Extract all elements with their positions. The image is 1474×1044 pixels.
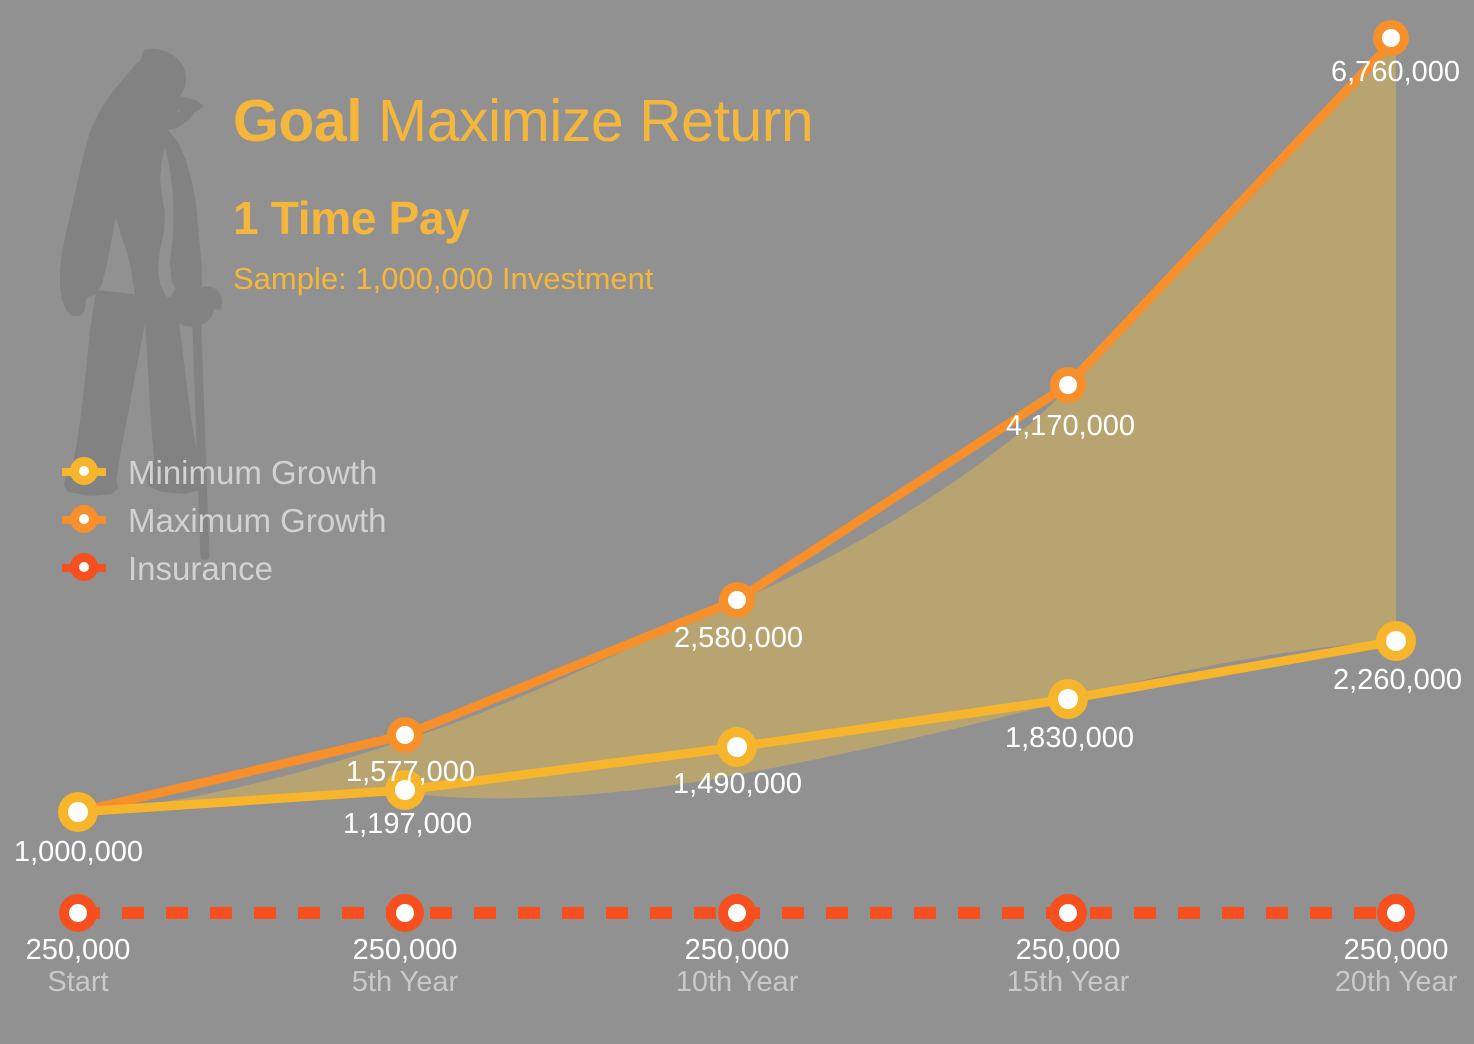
axis-tick-15th-year: 250,000 15th Year — [990, 934, 1146, 999]
data-label-min-5y: 1,197,000 — [343, 810, 472, 839]
sample-annotation: Sample: 1,000,000 Investment — [233, 263, 1053, 294]
axis-tick-20th-year: 250,000 20th Year — [1318, 934, 1474, 999]
legend-label: Maximum Growth — [128, 504, 387, 537]
header-block: Goal Maximize Return 1 Time Pay Sample: … — [233, 92, 1053, 294]
legend-label: Insurance — [128, 552, 273, 585]
axis-tick-value: 250,000 — [0, 934, 156, 966]
title-light: Maximize Return — [378, 88, 813, 154]
slide-root: Goal Maximize Return 1 Time Pay Sample: … — [0, 0, 1474, 1044]
axis-tick-period: 20th Year — [1318, 966, 1474, 998]
axis-tick-value: 250,000 — [659, 934, 815, 966]
series-marker-icon — [62, 455, 106, 489]
data-label-min-20y: 2,260,000 — [1333, 666, 1462, 695]
page-title: Goal Maximize Return — [233, 92, 1053, 151]
axis-tick-period: 10th Year — [659, 966, 815, 998]
axis-tick-10th-year: 250,000 10th Year — [659, 934, 815, 999]
data-label-max-20y: 6,760,000 — [1331, 58, 1460, 87]
data-label-max-10y: 2,580,000 — [674, 624, 803, 653]
axis-tick-period: 5th Year — [327, 966, 483, 998]
legend-item-insurance[interactable]: Insurance — [62, 544, 387, 592]
subtitle: 1 Time Pay — [233, 195, 1053, 241]
axis-tick-value: 250,000 — [1318, 934, 1474, 966]
series-marker-icon — [62, 503, 106, 537]
legend-item-minimum-growth[interactable]: Minimum Growth — [62, 448, 387, 496]
data-label-max-15y: 4,170,000 — [1006, 412, 1135, 441]
data-label-max-5y: 1,577,000 — [346, 758, 475, 787]
axis-tick-period: Start — [0, 966, 156, 998]
data-label-min-10y: 1,490,000 — [673, 770, 802, 799]
axis-tick-5th-year: 250,000 5th Year — [327, 934, 483, 999]
axis-tick-value: 250,000 — [327, 934, 483, 966]
axis-tick-start: 250,000 Start — [0, 934, 156, 999]
chart-legend: Minimum Growth Maximum Growth Insurance — [62, 448, 387, 592]
title-strong: Goal — [233, 88, 362, 154]
data-label-min-15y: 1,830,000 — [1005, 724, 1134, 753]
series-marker-icon — [62, 551, 106, 585]
data-label-start: 1,000,000 — [14, 838, 143, 867]
legend-label: Minimum Growth — [128, 456, 377, 489]
legend-item-maximum-growth[interactable]: Maximum Growth — [62, 496, 387, 544]
axis-tick-period: 15th Year — [990, 966, 1146, 998]
axis-tick-value: 250,000 — [990, 934, 1146, 966]
